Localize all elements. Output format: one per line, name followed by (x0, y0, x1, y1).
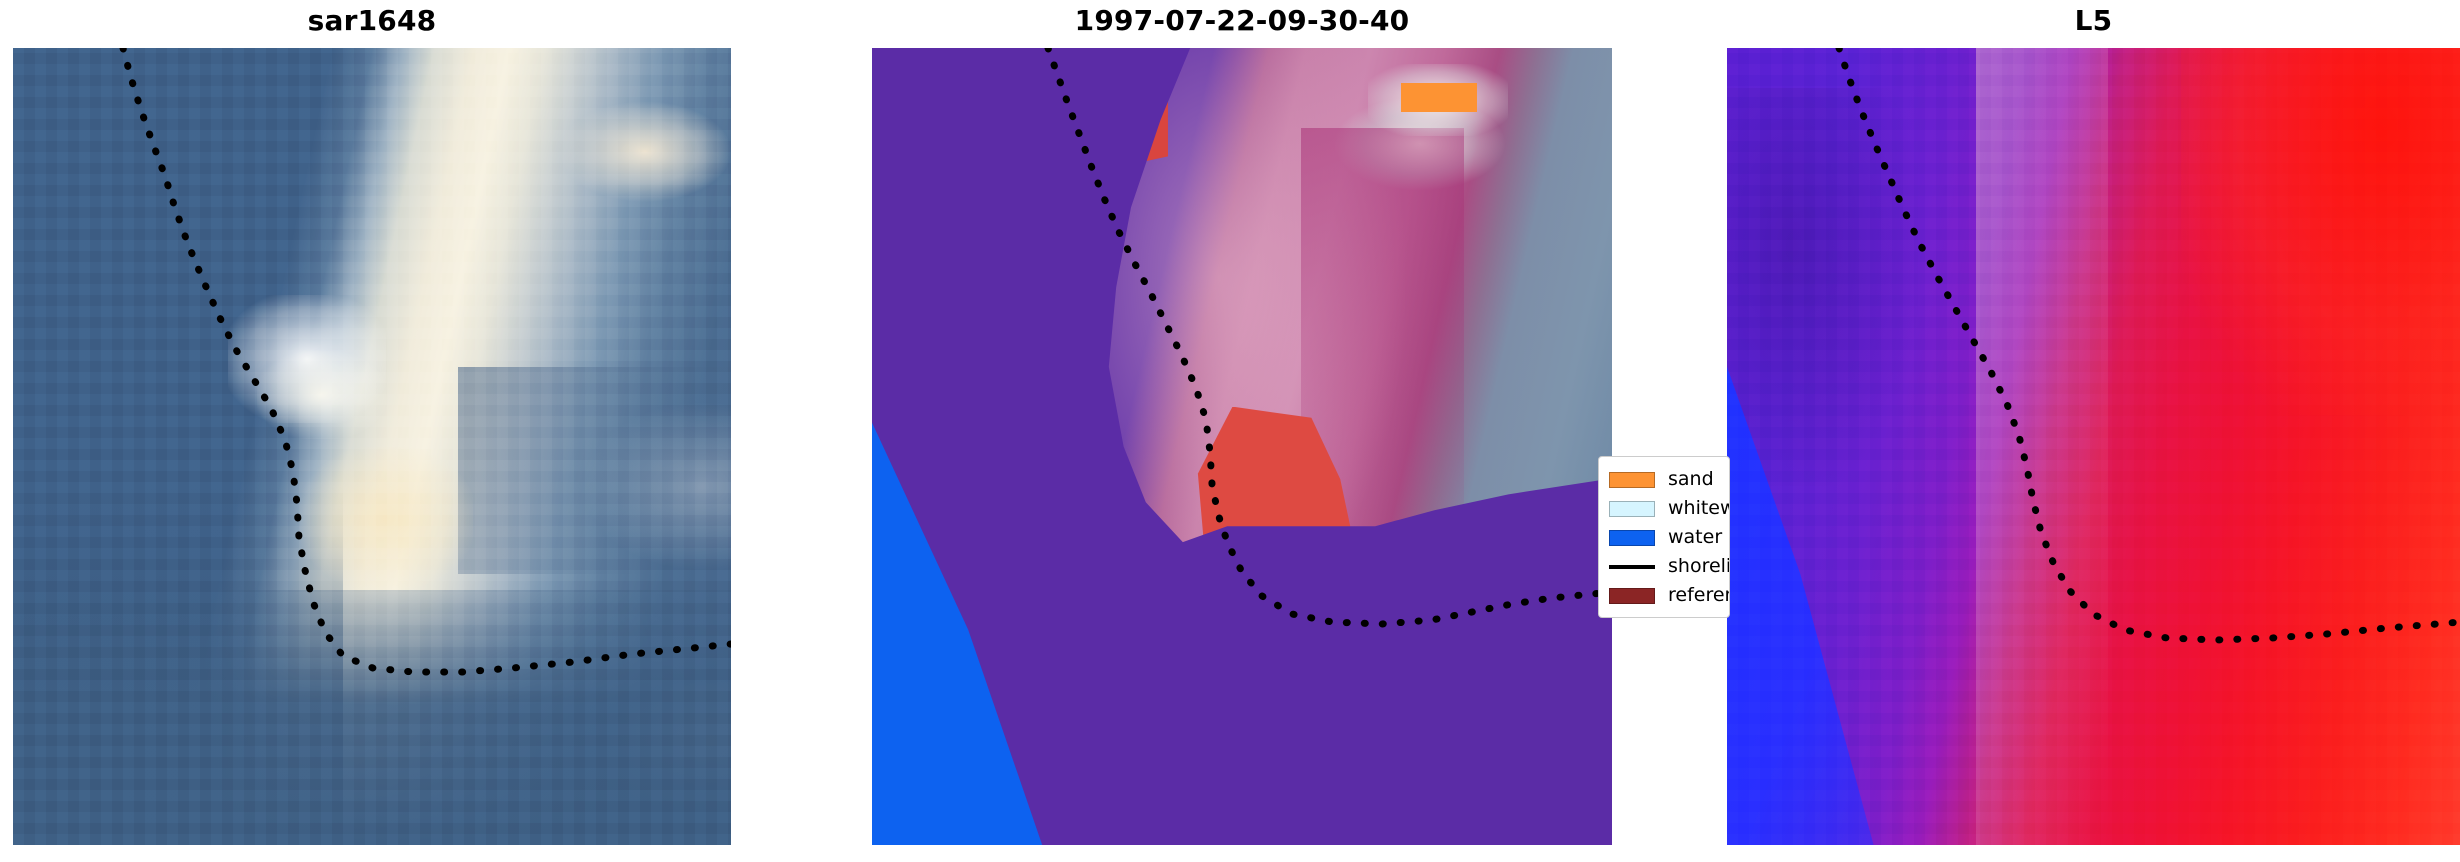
pixelation-texture (1727, 48, 2460, 845)
legend-item-water: water (1609, 523, 1729, 552)
panel-title-date: 1997-07-22-09-30-40 (872, 4, 1612, 38)
shoreline-line-icon (1609, 565, 1655, 569)
sand-swatch-icon (1609, 472, 1655, 488)
whitewater-swatch-icon (1609, 501, 1655, 517)
image-panel-classification[interactable] (872, 48, 1612, 845)
legend-item-shoreline: shoreli (1609, 552, 1729, 581)
water-swatch-icon (1609, 530, 1655, 546)
legend-item-whitewater: whitew (1609, 494, 1729, 523)
legend-item-reference-shoreline: referen (1609, 581, 1729, 610)
pixelation-texture (13, 48, 731, 845)
legend-label-reference-shoreline: referen (1668, 586, 1730, 605)
legend-item-sand: sand (1609, 465, 1729, 494)
panel-title-sar1648: sar1648 (13, 4, 731, 38)
legend-label-shoreline: shoreli (1668, 557, 1730, 576)
image-panel-l5-index[interactable] (1727, 48, 2460, 845)
panel-title-l5: L5 (1727, 4, 2460, 38)
legend-label-sand: sand (1668, 470, 1714, 489)
reference-shoreline-swatch-icon (1609, 588, 1655, 604)
legend-label-whitewater: whitew (1668, 499, 1730, 518)
legend-box: sand whitew water shoreli referen (1598, 456, 1730, 618)
legend-label-water: water (1668, 528, 1722, 547)
image-panel-sar1648[interactable] (13, 48, 731, 845)
sand-class-patch (1401, 83, 1476, 112)
figure-canvas: sar1648 1997-07-22-09-30-40 L5 (0, 0, 2460, 862)
